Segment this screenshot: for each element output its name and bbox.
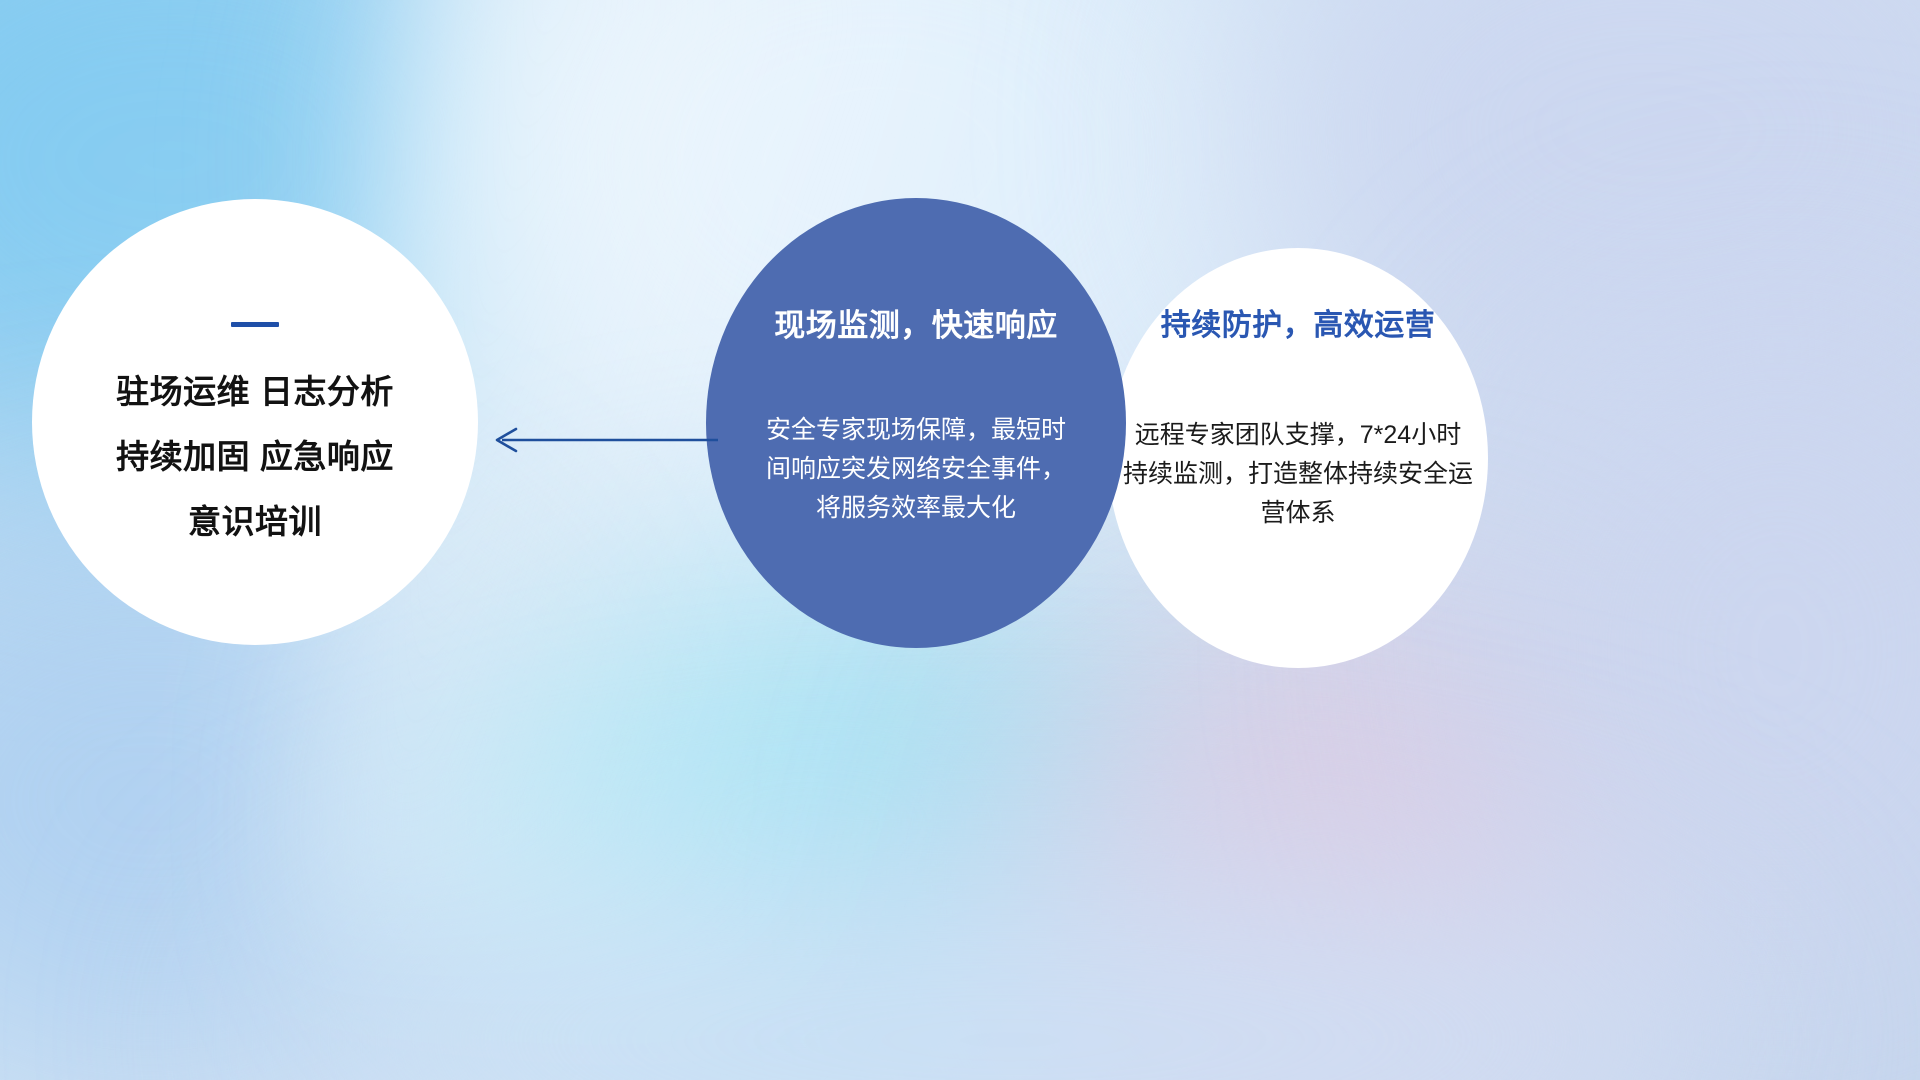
capability-list: 驻场运维 日志分析 持续加固 应急响应 意识培训 — [116, 375, 394, 538]
service-right-heading: 持续防护，高效运营 — [1161, 300, 1436, 344]
divider-dash-icon — [231, 322, 279, 327]
capability-line-1: 驻场运维 日志分析 — [116, 375, 394, 408]
flow-arrow-icon — [480, 418, 720, 462]
service-circle-middle[interactable]: 现场监测，快速响应 安全专家现场保障，最短时间响应突发网络安全事件，将服务效率最… — [706, 198, 1126, 648]
capability-line-3: 意识培训 — [116, 505, 394, 538]
slide-canvas: 驻场运维 日志分析 持续加固 应急响应 意识培训 持续防护，高效运营 远程专家团… — [0, 0, 1920, 1080]
capability-line-2: 持续加固 应急响应 — [116, 440, 394, 473]
service-middle-body: 安全专家现场保障，最短时间响应突发网络安全事件，将服务效率最大化 — [762, 411, 1070, 527]
service-right-body: 远程专家团队支撑，7*24小时持续监测，打造整体持续安全运营体系 — [1123, 416, 1473, 532]
capability-circle-left[interactable]: 驻场运维 日志分析 持续加固 应急响应 意识培训 — [32, 199, 478, 645]
service-middle-heading: 现场监测，快速响应 — [774, 300, 1058, 345]
service-circle-right[interactable]: 持续防护，高效运营 远程专家团队支撑，7*24小时持续监测，打造整体持续安全运营… — [1108, 248, 1488, 668]
